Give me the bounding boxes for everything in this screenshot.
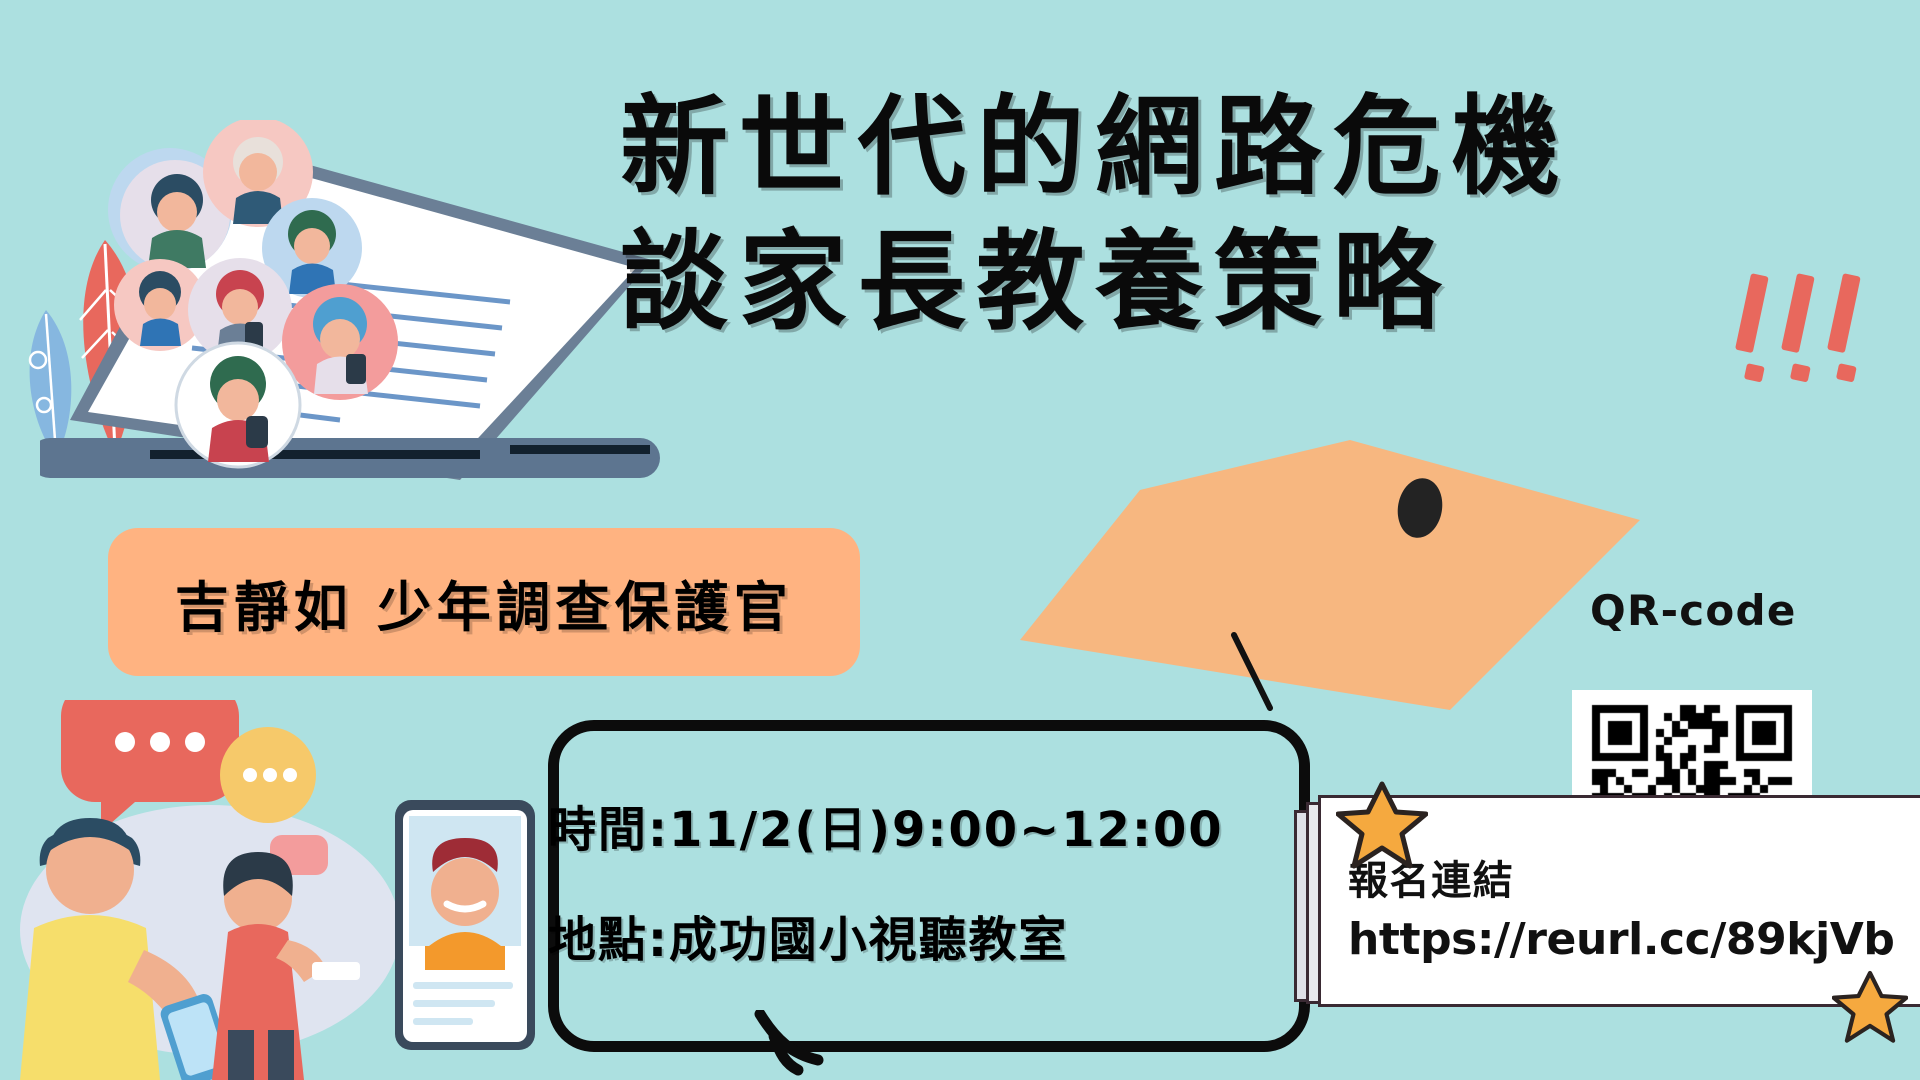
event-details: 時間:11/2(日)9:00~12:00 地點:成功國小視聽教室 [548,790,1308,1010]
registration-text: 報名連結 https://reurl.cc/89kjVb [1348,848,1908,965]
speaker-name: 吉靜如 少年調查保護官 [175,563,793,642]
people-illustration [20,700,440,1080]
title-line-1: 新世代的網路危機 [620,80,1910,215]
speech-bubble-tail [740,1010,880,1080]
exclamation-marks [1745,275,1905,435]
speaker-banner: 吉靜如 少年調查保護官 [108,528,860,676]
star-icon [1832,968,1908,1044]
poster-canvas: 新世代的網路危機 談家長教養策略 吉靜如 少年調查保護官 時間:11/2(日)9… [0,0,1920,1080]
phone-profile-card [395,800,535,1050]
qr-code-label: QR-code [1590,586,1797,635]
title-line-2: 談家長教養策略 [620,215,1910,350]
event-time: 時間:11/2(日)9:00~12:00 [548,790,1308,860]
registration-title: 報名連結 [1348,848,1908,906]
star-icon [1336,778,1428,870]
event-place: 地點:成功國小視聽教室 [548,900,1308,970]
registration-url[interactable]: https://reurl.cc/89kjVb [1348,914,1908,965]
poster-title: 新世代的網路危機 談家長教養策略 [620,80,1910,350]
laptop-illustration [40,120,660,480]
